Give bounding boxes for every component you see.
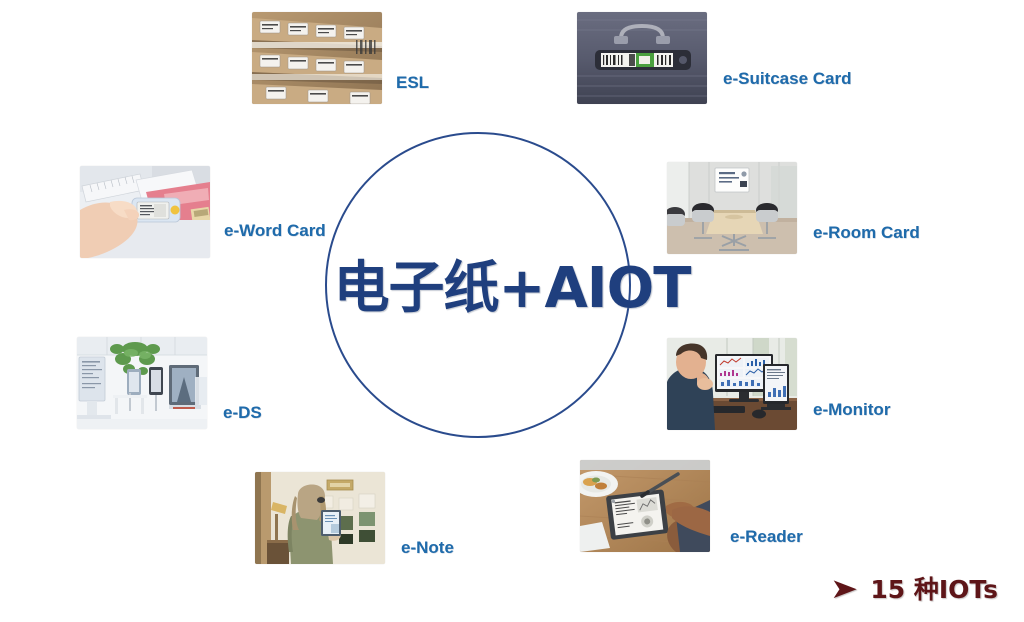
node-label-monitor: e-Monitor [813,400,890,420]
footer-note-text: 15 种IOTs [870,577,998,602]
writing-on-e-reader-photo [580,460,710,552]
node-esl[interactable]: ESL [252,12,429,104]
esl-shelf-labels-photo [252,12,382,104]
digital-signage-showroom-photo [77,337,207,429]
slide-canvas: 电子纸+AIOT [0,0,1024,622]
node-label-ds: e-DS [223,403,262,423]
node-label-esl: ESL [396,73,429,93]
hand-holding-word-card-photo [80,166,210,258]
node-monitor[interactable]: e-Monitor [667,338,890,430]
meeting-room-display-photo [667,162,797,254]
chevron-right-icon: ➤ [830,575,859,603]
node-room[interactable]: e-Room Card [667,162,920,254]
node-label-note: e-Note [401,538,454,558]
man-at-dual-monitors-photo [667,338,797,430]
footer-note: ➤ 15 种IOTs [830,572,998,606]
node-label-room: e-Room Card [813,223,920,243]
node-label-reader: e-Reader [730,527,803,547]
node-note[interactable]: e-Note [255,472,454,564]
node-reader[interactable]: e-Reader [580,460,803,552]
node-suitcase[interactable]: e-Suitcase Card [577,12,852,104]
woman-with-e-note-tablet-photo [255,472,385,564]
node-word[interactable]: e-Word Card [80,166,326,258]
suitcase-etag-photo [577,12,707,104]
node-label-suitcase: e-Suitcase Card [723,69,852,89]
node-ds[interactable]: e-DS [77,337,262,429]
node-label-word: e-Word Card [224,221,326,241]
